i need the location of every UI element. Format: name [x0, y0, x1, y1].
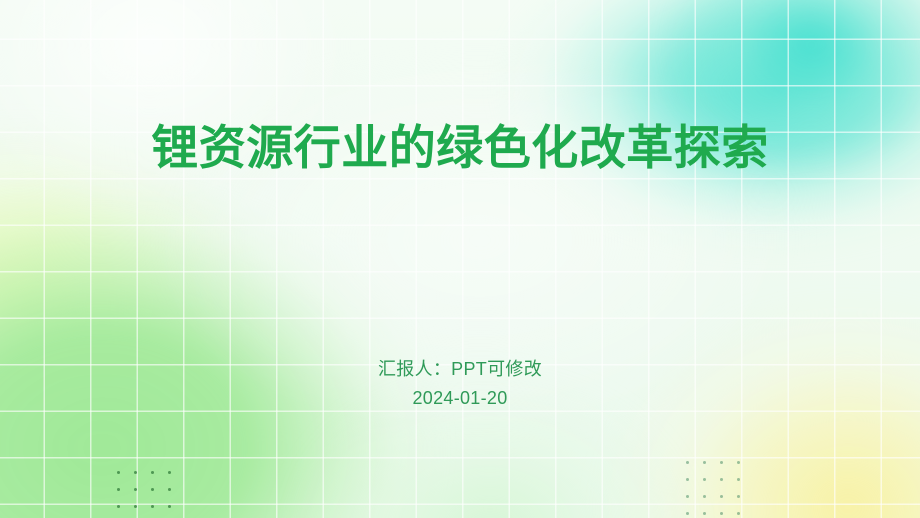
dot-decoration	[737, 512, 740, 515]
presentation-title-slide: 锂资源行业的绿色化改革探索 汇报人：PPT可修改 2024-01-20	[0, 0, 920, 518]
presenter-label: 汇报人：PPT可修改	[0, 355, 920, 384]
dot-decoration	[720, 461, 723, 464]
date-label: 2024-01-20	[0, 384, 920, 413]
dot-decoration	[737, 478, 740, 481]
dot-decoration	[168, 471, 171, 474]
dot-decoration	[703, 461, 706, 464]
background-grid-overlay	[0, 0, 920, 518]
subtitle-block: 汇报人：PPT可修改 2024-01-20	[0, 355, 920, 413]
dot-decoration	[168, 505, 171, 508]
dot-decoration	[151, 505, 154, 508]
dot-grid-decoration-right	[686, 461, 748, 518]
dot-decoration	[117, 471, 120, 474]
dot-decoration	[117, 505, 120, 508]
dot-decoration	[134, 471, 137, 474]
dot-decoration	[686, 512, 689, 515]
dot-decoration	[703, 478, 706, 481]
dot-decoration	[151, 471, 154, 474]
dot-decoration	[134, 488, 137, 491]
dot-decoration	[737, 461, 740, 464]
dot-decoration	[151, 488, 154, 491]
dot-decoration	[720, 478, 723, 481]
dot-grid-decoration-left	[117, 471, 179, 518]
dot-decoration	[117, 488, 120, 491]
dot-decoration	[686, 478, 689, 481]
dot-decoration	[134, 505, 137, 508]
dot-decoration	[686, 461, 689, 464]
dot-decoration	[703, 512, 706, 515]
dot-decoration	[686, 495, 689, 498]
dot-decoration	[720, 512, 723, 515]
title-block: 锂资源行业的绿色化改革探索	[0, 122, 920, 175]
dot-decoration	[737, 495, 740, 498]
dot-decoration	[168, 488, 171, 491]
page-title: 锂资源行业的绿色化改革探索	[0, 122, 920, 175]
dot-decoration	[720, 495, 723, 498]
dot-decoration	[703, 495, 706, 498]
